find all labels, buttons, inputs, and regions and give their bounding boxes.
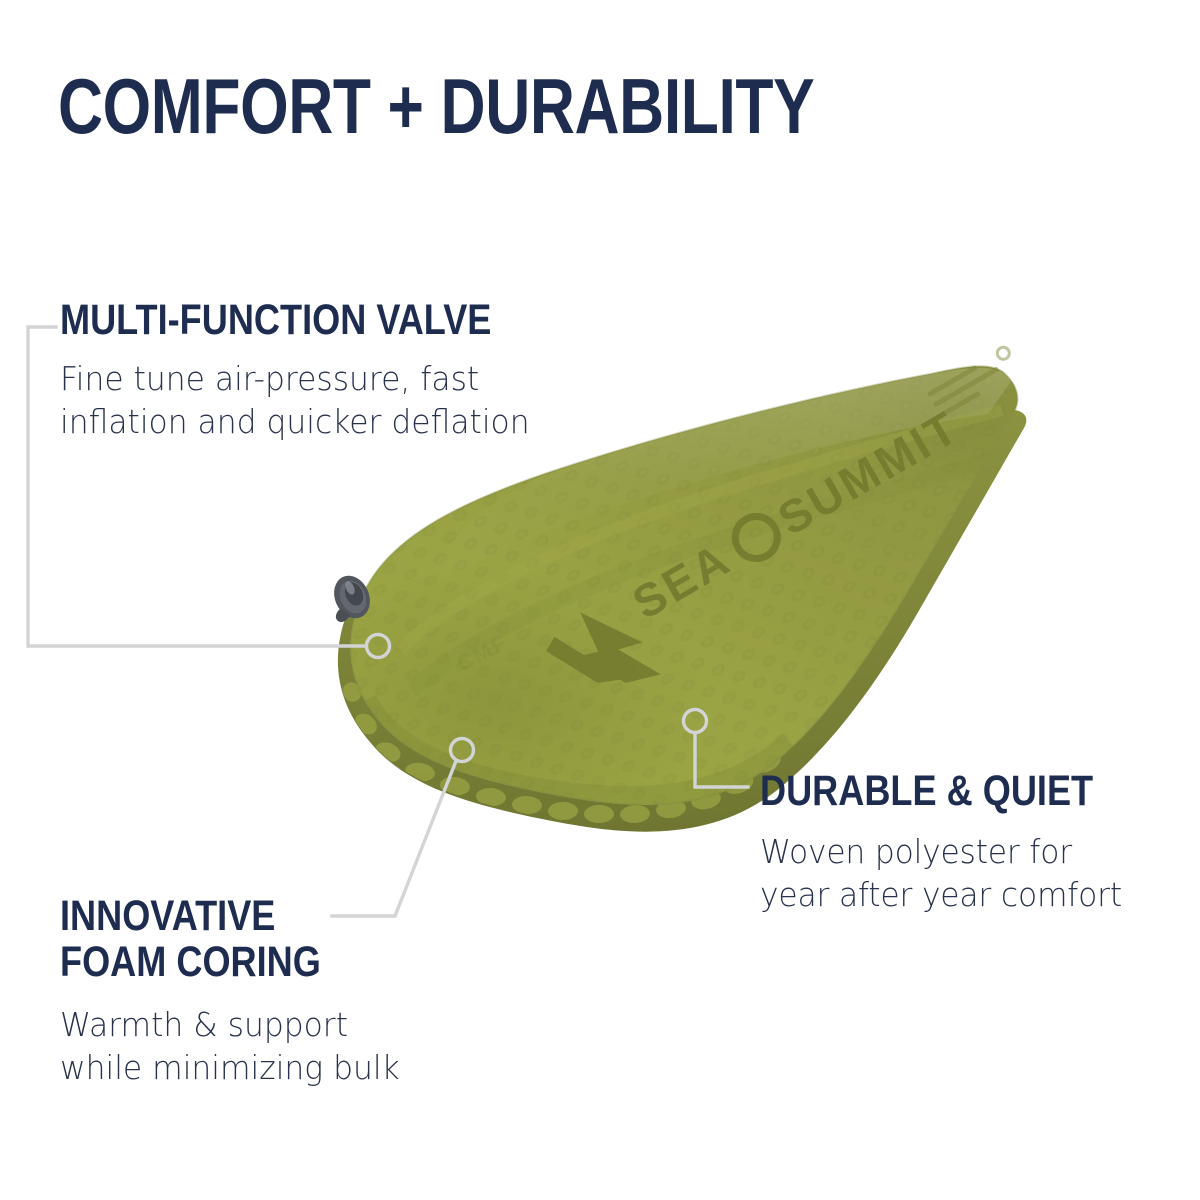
callout-body-durable-and-quiet: Woven polyester for year after year comf… bbox=[760, 830, 1137, 916]
callout-heading-multi-function-valve: MULTI-FUNCTION VALVE bbox=[60, 297, 491, 343]
callout-heading-durable-and-quiet: DURABLE & QUIET bbox=[760, 768, 1093, 814]
infographic-canvas: COMFORT + DURABILITY bbox=[0, 0, 1200, 1200]
callout-durable-and-quiet: DURABLE & QUIET Woven polyester for year… bbox=[760, 768, 1157, 916]
callout-heading-innovative-foam-coring: INNOVATIVE FOAM CORING bbox=[60, 893, 360, 985]
callout-body-multi-function-valve: Fine tune air-pressure, fast inflation a… bbox=[60, 357, 548, 443]
callout-body-innovative-foam-coring: Warmth & support while minimizing bulk bbox=[60, 1003, 400, 1089]
callout-innovative-foam-coring: INNOVATIVE FOAM CORING Warmth & support … bbox=[60, 893, 418, 1089]
callout-multi-function-valve: MULTI-FUNCTION VALVE Fine tune air-press… bbox=[60, 297, 574, 443]
